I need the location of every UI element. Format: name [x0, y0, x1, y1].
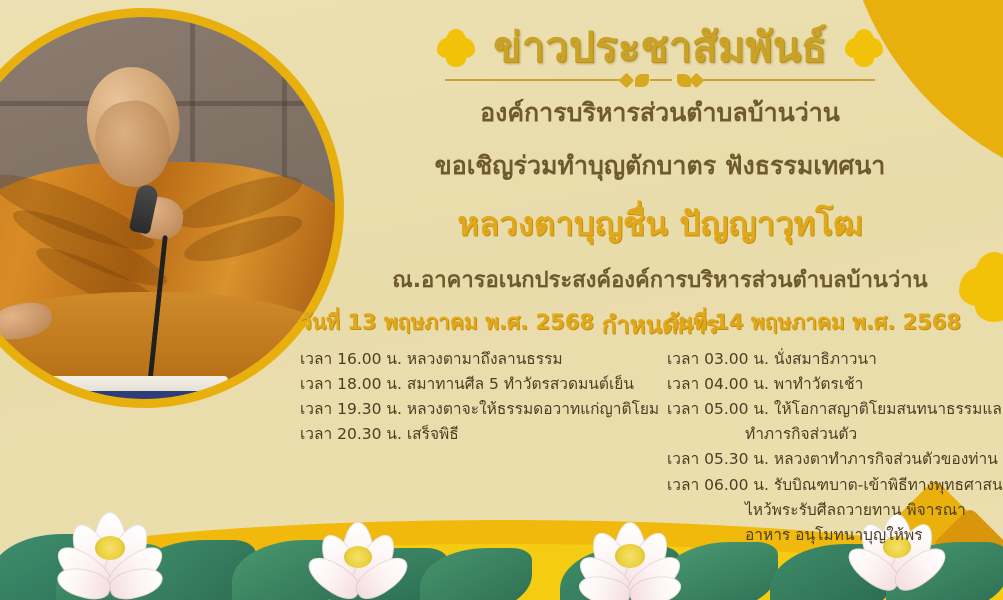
organization-name: องค์การบริหารส่วนตำบลบ้านว่าน — [330, 93, 990, 133]
list-item: เวลา 19.30 น. หลวงตาจะให้ธรรมดอวาทแก่ญาต… — [300, 397, 631, 422]
monk-name: หลวงตาบุญชื่น ปัญญาวุทโฒ — [330, 197, 990, 250]
list-item: เวลา 03.00 น. นั่งสมาธิภาวนา — [667, 347, 1000, 372]
invitation-text: ขอเชิญร่วมทำบุญตักบาตร ฟังธรรมเทศนา — [330, 146, 990, 186]
list-item: เวลา 16.00 น. หลวงตามาถึงลานธรรม — [300, 347, 631, 372]
page-title: ข่าวประชาสัมพันธ์ — [493, 24, 827, 71]
list-item-continuation: ไหว้พระรับศีลถวายทาน พิจารณา — [667, 498, 1000, 523]
list-item-continuation: ทำภารกิจส่วนตัว — [667, 422, 1000, 447]
schedule: วันที่ 13 พฤษภาคม พ.ศ. 2568 เวลา 16.00 น… — [300, 306, 1000, 548]
list-item: เวลา 05.00 น. ให้โอกาสญาติโยมสนทนาธรรมแล… — [667, 397, 1000, 422]
list-item: เวลา 05.30 น. หลวงตาทำภารกิจส่วนตัวของท่… — [667, 447, 1000, 472]
flower-right-icon — [845, 29, 883, 67]
lotus-flower — [48, 504, 172, 590]
monk-photo — [0, 8, 344, 408]
list-item: เวลา 06.00 น. รับบิณฑบาต-เข้าพิธีทางพุทธ… — [667, 473, 1000, 498]
schedule-column-day2: วันที่ 14 พฤษภาคม พ.ศ. 2568 เวลา 03.00 น… — [645, 306, 1000, 548]
day1-date: วันที่ 13 พฤษภาคม พ.ศ. 2568 — [300, 306, 631, 339]
title-divider-ornament — [445, 73, 875, 87]
list-item: เวลา 20.30 น. เสร็จพิธี — [300, 422, 631, 447]
lotus-center — [95, 536, 125, 560]
flower-left-icon — [437, 29, 475, 67]
header: ข่าวประชาสัมพันธ์ องค์การบริหารส่วนตำบลบ… — [330, 0, 990, 344]
lotus-center — [344, 546, 372, 568]
list-item: เวลา 04.00 น. พาทำวัตรเช้า — [667, 372, 1000, 397]
venue-text: ณ.อาคารอเนกประสงค์องค์การบริหารส่วนตำบลบ… — [330, 262, 990, 297]
list-item-continuation: อาหาร อนุโมทนาบุญให้พร — [667, 523, 1000, 548]
schedule-column-day1: วันที่ 13 พฤษภาคม พ.ศ. 2568 เวลา 16.00 น… — [300, 306, 645, 447]
list-item: เวลา 18.00 น. สมาทานศีล 5 ทำวัตรสวดมนต์เ… — [300, 372, 631, 397]
day2-date: วันที่ 14 พฤษภาคม พ.ศ. 2568 — [667, 306, 1000, 339]
title-row: ข่าวประชาสัมพันธ์ — [330, 24, 990, 71]
poster-canvas: ข่าวประชาสัมพันธ์ องค์การบริหารส่วนตำบลบ… — [0, 0, 1003, 600]
